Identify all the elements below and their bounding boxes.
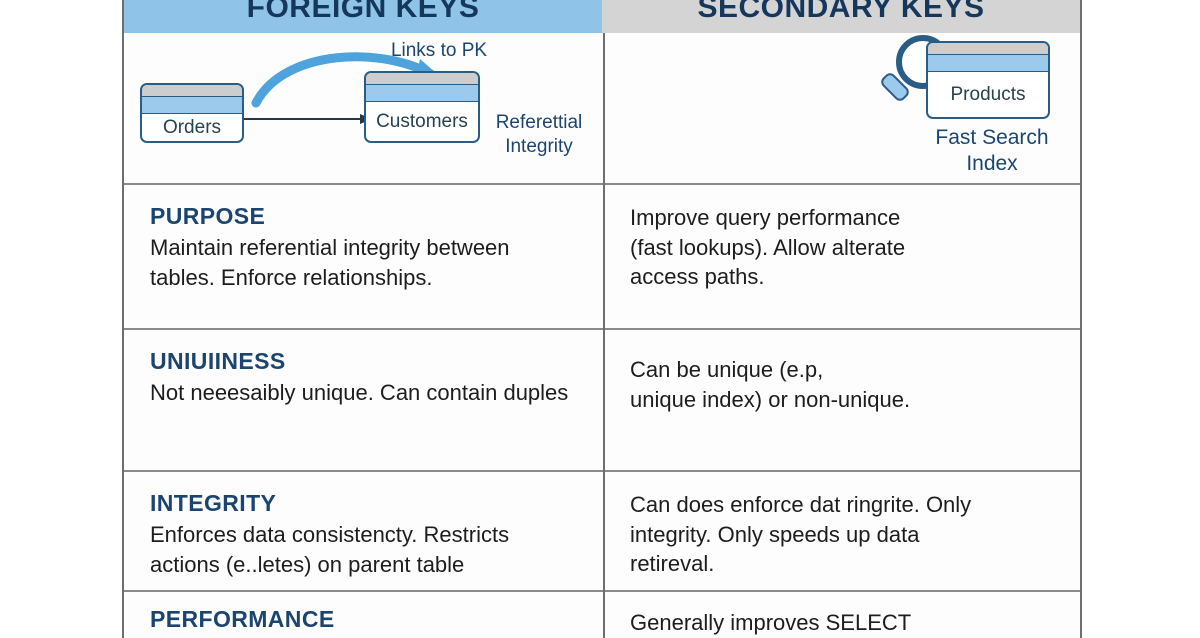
row-text: Can does enforce dat ringrite. Only inte…: [630, 490, 1054, 579]
cell-uniqueness-secondary-keys: Can be unique (e.p, unique index) or non…: [602, 330, 1080, 470]
comparison-infographic: FOREIGN KEYS SECONDARY KEYS Orders: [0, 0, 1200, 630]
column-header-secondary-keys: SECONDARY KEYS: [602, 0, 1080, 33]
cell-purpose-foreign-keys: PURPOSE Maintain referential integrity b…: [124, 185, 602, 328]
table-glyph-key-band: [142, 97, 242, 114]
referential-integrity-caption: Referettial Integrity: [479, 111, 599, 159]
column-divider: [603, 33, 605, 638]
cell-integrity-foreign-keys: INTEGRITY Enforces data consistencty. Re…: [124, 472, 602, 590]
table-glyph-label: Customers: [366, 102, 478, 141]
table-glyph-label: Products: [928, 72, 1048, 117]
fast-search-index-caption: Fast Search Index: [902, 125, 1082, 178]
table-glyph-key-band: [366, 85, 478, 102]
table-header-row: FOREIGN KEYS SECONDARY KEYS: [124, 0, 1080, 33]
cell-uniqueness-foreign-keys: UNIUIINESS Not neeesaibly unique. Can co…: [124, 330, 602, 470]
column-header-foreign-keys: FOREIGN KEYS: [124, 0, 602, 33]
table-glyph-header-band: [142, 85, 242, 97]
row-label: INTEGRITY: [150, 490, 576, 516]
cell-performance-secondary-keys: Generally improves SELECT: [602, 592, 1080, 638]
foreign-key-diagram: Orders Customers Links: [124, 33, 602, 183]
links-to-pk-label: Links to PK: [374, 39, 504, 63]
table-glyph-orders: Orders: [140, 83, 244, 143]
row-text: Can be unique (e.p, unique index) or non…: [630, 355, 1054, 414]
row-text: Not neeesaibly unique. Can contain duple…: [150, 378, 576, 408]
cell-purpose-secondary-keys: Improve query performance (fast lookups)…: [602, 185, 1080, 328]
row-text: Enforces data consistencty. Restricts ac…: [150, 520, 576, 579]
table-glyph-key-band: [928, 55, 1048, 72]
row-text: Generally improves SELECT: [630, 608, 1054, 638]
table-glyph-products: Products: [926, 41, 1050, 119]
table-glyph-customers: Customers: [364, 71, 480, 143]
table-row-uniqueness: UNIUIINESS Not neeesaibly unique. Can co…: [124, 328, 1080, 470]
table-row-purpose: PURPOSE Maintain referential integrity b…: [124, 183, 1080, 328]
comparison-table: FOREIGN KEYS SECONDARY KEYS Orders: [122, 0, 1082, 638]
table-glyph-label: Orders: [142, 114, 242, 141]
secondary-key-diagram: Products Fast Search Index: [602, 33, 1080, 183]
row-label: UNIUIINESS: [150, 348, 576, 374]
cell-integrity-secondary-keys: Can does enforce dat ringrite. Only inte…: [602, 472, 1080, 590]
cell-performance-foreign-keys: PERFORMANCE: [124, 592, 602, 638]
connector-arrow-icon: [244, 111, 374, 127]
row-text: Maintain referential integrity between t…: [150, 233, 576, 292]
row-text: Improve query performance (fast lookups)…: [630, 203, 1054, 292]
diagram-row: Orders Customers Links: [124, 33, 1080, 183]
table-row-performance: PERFORMANCE Generally improves SELECT: [124, 590, 1080, 638]
table-glyph-header-band: [366, 73, 478, 85]
row-label: PURPOSE: [150, 203, 576, 229]
table-glyph-header-band: [928, 43, 1048, 55]
table-row-integrity: INTEGRITY Enforces data consistencty. Re…: [124, 470, 1080, 590]
row-label: PERFORMANCE: [150, 606, 576, 632]
